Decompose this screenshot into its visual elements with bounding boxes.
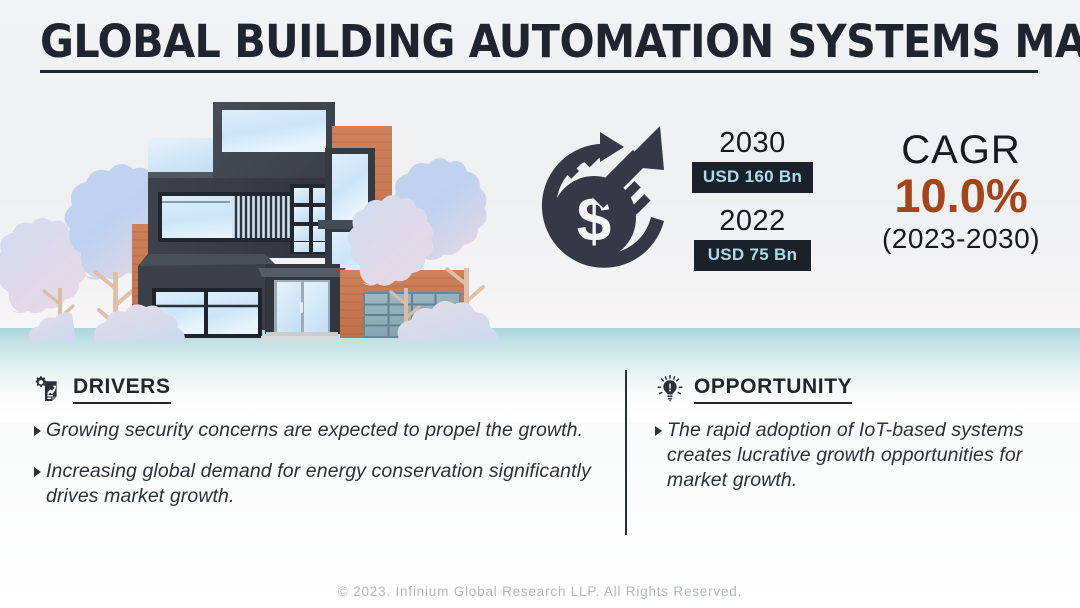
drivers-title-wrap: DRIVERS (73, 375, 171, 404)
stat-base: 2022 USD 75 Bn (690, 204, 815, 271)
drivers-header: DRIVERS (34, 374, 609, 404)
title-underline (40, 70, 1038, 73)
drivers-bullets: Growing security concerns are expected t… (34, 418, 609, 509)
triangle-bullet-icon (655, 426, 662, 436)
cagr-range: (2023-2030) (845, 222, 1077, 256)
list-item: Increasing global demand for energy cons… (34, 459, 609, 509)
modern-building-illustration (0, 92, 520, 342)
opportunity-header: OPPORTUNITY (655, 374, 1055, 404)
opportunity-bullets: The rapid adoption of IoT-based systems … (655, 418, 1055, 493)
lightbulb-idea-icon (655, 374, 685, 404)
stat-forecast: 2030 USD 160 Bn (690, 126, 815, 193)
opportunity-section: OPPORTUNITY The rapid adoption of IoT-ba… (655, 374, 1055, 509)
forecast-value-badge: USD 160 Bn (692, 162, 813, 193)
infographic-root: GLOBAL BUILDING AUTOMATION SYSTEMS MARKE… (0, 0, 1080, 608)
list-item: The rapid adoption of IoT-based systems … (655, 418, 1055, 493)
cagr-block: CAGR 10.0% (2023-2030) (845, 128, 1077, 256)
triangle-bullet-icon (34, 467, 41, 477)
footer-copyright: © 2023. Infinium Global Research LLP. Al… (0, 584, 1080, 599)
cagr-value: 10.0% (845, 170, 1077, 222)
list-item: Growing security concerns are expected t… (34, 418, 609, 443)
base-year: 2022 (690, 204, 815, 238)
section-divider (625, 370, 627, 535)
opportunity-title-wrap: OPPORTUNITY (694, 375, 852, 404)
market-stats: $ 2030 USD 160 Bn 2022 USD 75 Bn (512, 118, 812, 298)
opportunity-title: OPPORTUNITY (694, 375, 852, 398)
cagr-label: CAGR (845, 128, 1077, 172)
drivers-title: DRIVERS (73, 375, 171, 398)
drivers-title-underline (73, 402, 171, 404)
page-title-container: GLOBAL BUILDING AUTOMATION SYSTEMS MARKE… (40, 18, 1040, 73)
opportunity-title-underline (694, 402, 852, 404)
drivers-section: DRIVERS Growing security concerns are ex… (34, 374, 609, 525)
bush-far-left (29, 312, 76, 342)
driver-text-1: Growing security concerns are expected t… (46, 418, 583, 443)
base-value-badge: USD 75 Bn (694, 240, 812, 271)
triangle-bullet-icon (34, 426, 41, 436)
opportunity-text-1: The rapid adoption of IoT-based systems … (667, 418, 1055, 493)
driver-text-2: Increasing global demand for energy cons… (46, 459, 609, 509)
dollar-growth-icon: $ (512, 118, 687, 293)
forecast-year: 2030 (690, 126, 815, 160)
page-title: GLOBAL BUILDING AUTOMATION SYSTEMS MARKE… (40, 18, 1060, 66)
tower-window-band (222, 110, 326, 152)
document-chart-gear-icon (34, 374, 64, 404)
